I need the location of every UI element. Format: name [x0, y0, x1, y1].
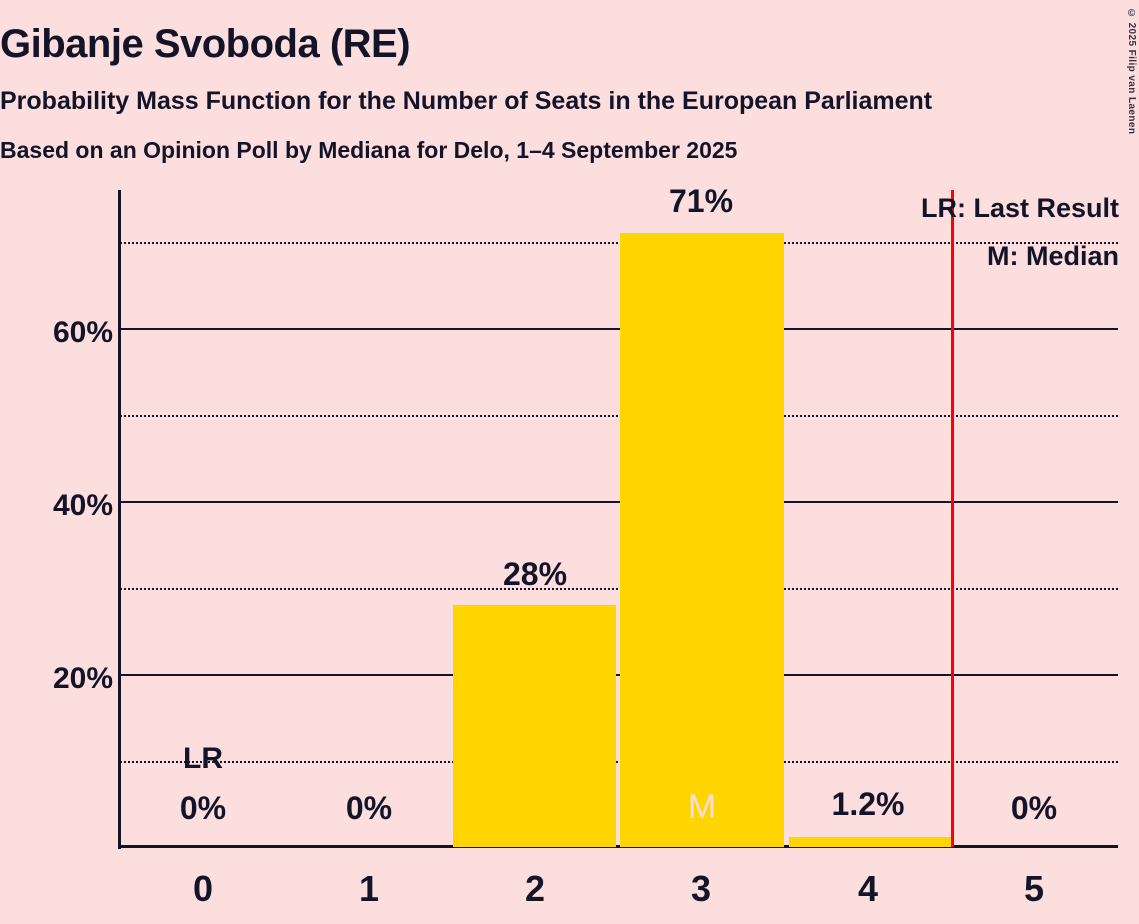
gridline-major-20 [120, 674, 1118, 676]
gridline-major-60 [120, 328, 1118, 330]
y-tick-label-60: 60% [3, 318, 113, 348]
chart-source-note: Based on an Opinion Poll by Mediana for … [0, 136, 1139, 164]
bar-value-label-2: 28% [452, 558, 618, 590]
bar-seat-4 [789, 837, 951, 847]
copyright-notice: © 2025 Filip van Laenen [1126, 8, 1137, 134]
x-tick-label-1: 1 [286, 869, 452, 909]
bar-value-label-3: 71% [618, 185, 784, 217]
last-result-marker-label: LR [120, 744, 286, 774]
bar-seat-3: M [620, 233, 784, 847]
bar-value-label-5: 0% [951, 792, 1117, 824]
x-tick-label-3: 3 [618, 869, 784, 909]
y-tick-label-40: 40% [3, 491, 113, 521]
last-result-line [951, 190, 954, 847]
gridline-major-40 [120, 501, 1118, 503]
y-tick-label-20: 20% [3, 664, 113, 694]
x-tick-label-4: 4 [785, 869, 951, 909]
chart-container: Gibanje Svoboda (RE) Probability Mass Fu… [0, 0, 1139, 924]
x-tick-label-5: 5 [951, 869, 1117, 909]
gridline-minor-50 [120, 415, 1118, 417]
gridline-minor-30 [120, 588, 1118, 590]
bar-seat-2 [453, 605, 616, 847]
chart-title: Gibanje Svoboda (RE) [0, 22, 1139, 66]
bar-value-label-4: 1.2% [785, 788, 951, 820]
legend-entry-median: M: Median [921, 232, 1119, 280]
legend-entry-last-result: LR: Last Result [921, 184, 1119, 232]
median-marker-label: M [620, 788, 784, 827]
bar-value-label-0: 0% [120, 792, 286, 824]
chart-subtitle: Probability Mass Function for the Number… [0, 86, 1139, 116]
x-tick-label-2: 2 [452, 869, 618, 909]
legend: LR: Last Result M: Median [921, 184, 1119, 280]
bar-value-label-1: 0% [286, 792, 452, 824]
x-tick-label-0: 0 [120, 869, 286, 909]
